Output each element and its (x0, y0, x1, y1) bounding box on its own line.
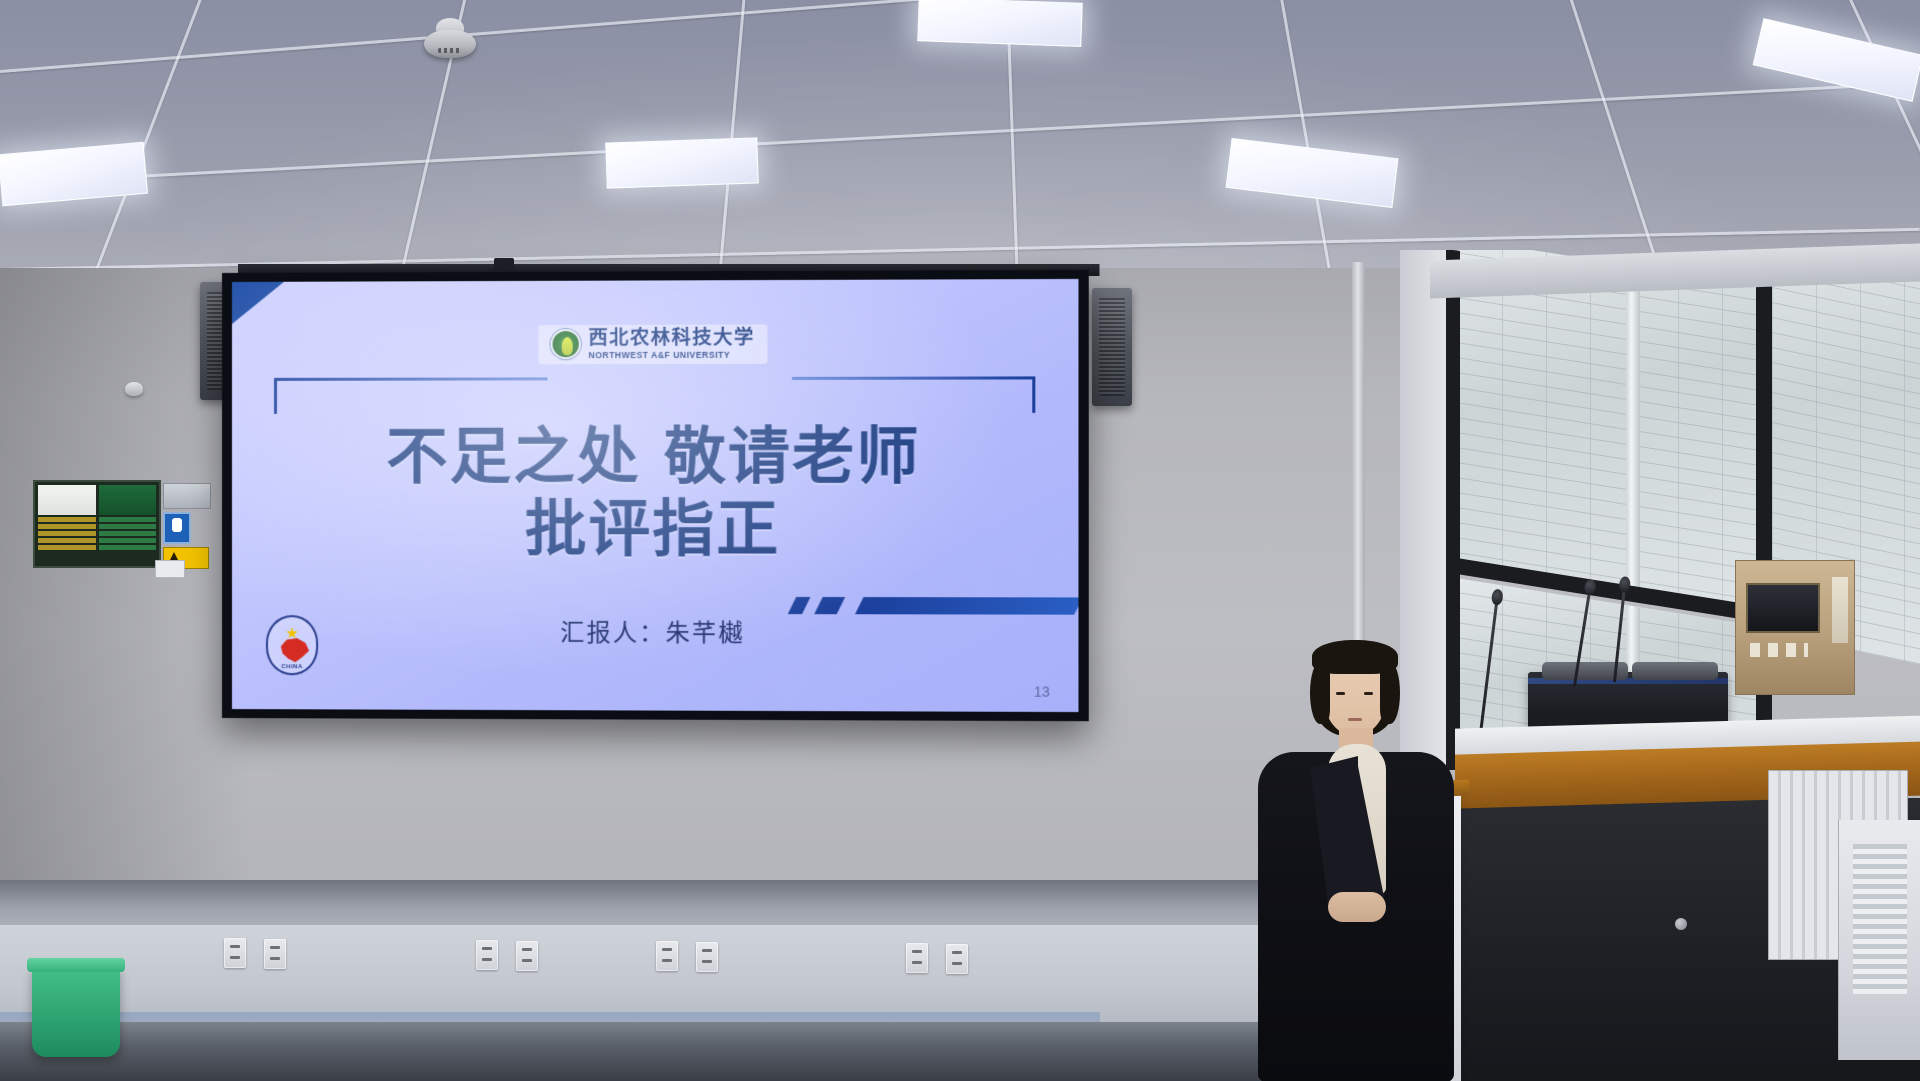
slide-title: 不足之处 敬请老师 批评指正 (232, 421, 1078, 567)
wall-speaker-right (1092, 288, 1132, 406)
seal-china-map-icon (279, 638, 309, 662)
desk-lock-knob[interactable] (1675, 918, 1687, 930)
classroom-scene: 西北农林科技大学 NORTHWEST A&F UNIVERSITY 不足之处 敬… (0, 0, 1920, 1081)
notice-row (38, 538, 96, 543)
window-pane-upper (1458, 250, 1758, 616)
notice-row (38, 524, 96, 529)
power-outlet[interactable] (696, 942, 718, 972)
university-logo: 西北农林科技大学 NORTHWEST A&F UNIVERSITY (538, 324, 767, 363)
corner-air-unit (1838, 820, 1920, 1060)
smoke-detector-base (424, 30, 476, 58)
mandatory-safety-sign (163, 512, 191, 544)
wall-equipment-cabinet[interactable] (1735, 560, 1855, 695)
slide-rule-left (274, 377, 548, 381)
ceiling-light-panel (605, 137, 759, 188)
notice-header (38, 485, 96, 515)
wheat-ear-emblem-icon (550, 329, 580, 359)
smoke-detector-vent (438, 48, 462, 53)
cabinet-label-tag (1832, 577, 1848, 643)
wall-label-plate (163, 483, 211, 509)
presentation-slide: 西北农林科技大学 NORTHWEST A&F UNIVERSITY 不足之处 敬… (232, 279, 1078, 712)
notice-row (99, 538, 157, 543)
notice-row (99, 531, 157, 536)
presenter-hair-side-right (1380, 662, 1400, 724)
power-outlet[interactable] (476, 940, 498, 970)
notice-row (38, 517, 96, 522)
power-outlet[interactable] (516, 941, 538, 971)
slide-slash-decoration (772, 597, 1079, 615)
projection-screen[interactable]: 西北农林科技大学 NORTHWEST A&F UNIVERSITY 不足之处 敬… (222, 270, 1089, 721)
notice-column-right (99, 485, 157, 563)
power-outlet[interactable] (946, 944, 968, 974)
slide-title-line-1: 不足之处 敬请老师 (232, 421, 1078, 494)
cabinet-screen (1746, 583, 1820, 633)
notice-row (99, 517, 157, 522)
cabinet-knobs[interactable] (1750, 643, 1808, 657)
slash-tick (788, 597, 811, 614)
presenter-eye-right (1364, 692, 1373, 695)
notice-row (38, 531, 96, 536)
ceiling-sensor-dome-icon (125, 382, 143, 396)
projector-mount (494, 258, 514, 272)
wall-conduit-pipe (1352, 262, 1365, 682)
power-outlet[interactable] (264, 939, 286, 969)
logo-english-name: NORTHWEST A&F UNIVERSITY (588, 351, 754, 360)
notice-row (99, 524, 157, 529)
presenter-mouth (1348, 718, 1362, 721)
smoke-detector-icon (424, 16, 476, 60)
slide-rule-right (792, 376, 1035, 380)
exterior-brick-wall (1458, 250, 1758, 616)
slash-tick (814, 597, 845, 614)
notice-row (38, 545, 96, 550)
slide-rule-left-tick (274, 378, 277, 414)
slide-corner-wedge (232, 282, 284, 324)
air-unit-vents (1853, 844, 1907, 994)
seal-caption: CHINA (268, 664, 316, 670)
presenter-person (1240, 640, 1470, 1081)
slide-page-number: 13 (1034, 684, 1050, 700)
slash-bar (855, 597, 1078, 615)
exterior-downpipe (1626, 265, 1640, 597)
slide-title-line-2: 批评指正 (232, 494, 1078, 567)
china-map-seal-icon: ★ CHINA (266, 615, 318, 675)
power-outlet[interactable] (224, 938, 246, 968)
slide-presenter-line: 汇报人：朱芊樾 (232, 612, 1078, 649)
green-trash-bin[interactable] (32, 965, 120, 1057)
wall-switch-plate[interactable] (155, 560, 185, 578)
ceiling-light-panel (917, 0, 1082, 47)
power-outlet[interactable] (656, 941, 678, 971)
slide-rule-right-tick (1032, 376, 1035, 412)
notice-column-left (38, 485, 96, 563)
conference-pad (1632, 662, 1718, 680)
power-outlet[interactable] (906, 943, 928, 973)
presenter-hands (1328, 892, 1386, 922)
green-notice-board (33, 480, 161, 568)
notice-row (99, 545, 157, 550)
presenter-eye-left (1336, 692, 1345, 695)
logo-text-group: 西北农林科技大学 NORTHWEST A&F UNIVERSITY (588, 329, 754, 360)
presenter-hair-side-left (1310, 662, 1330, 724)
logo-chinese-name: 西北农林科技大学 (588, 329, 754, 349)
notice-header (99, 485, 157, 515)
